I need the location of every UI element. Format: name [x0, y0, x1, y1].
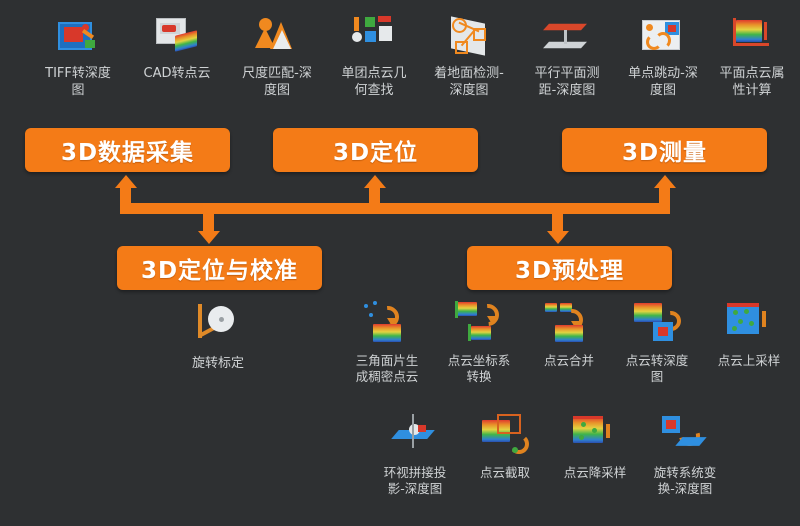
- tool-label: 点云截取: [480, 465, 530, 481]
- panoramic-stitch-icon: [389, 412, 441, 462]
- rotation-transform-icon: [659, 412, 711, 462]
- tool-label: 平面点云属 性计算: [719, 65, 784, 99]
- cloud-downsample-icon: [569, 412, 621, 462]
- connector-hbar-left: [120, 203, 380, 214]
- tool-label: 旋转标定: [192, 355, 244, 372]
- tool-point-cloud-upsampling[interactable]: 点云上采样: [712, 300, 786, 369]
- tool-label: 着地面检测- 深度图: [434, 65, 504, 99]
- tool-label: TIFF转深度 图: [45, 65, 111, 99]
- process-box-3d-data-acquisition[interactable]: 3D数据采集: [25, 128, 230, 172]
- cloud-to-depth-icon: [631, 300, 683, 350]
- ground-plane-detect-icon: [443, 12, 495, 62]
- coord-transform-icon: [453, 300, 505, 350]
- connector-hbar-right: [369, 203, 670, 214]
- tool-point-cloud-downsampling[interactable]: 点云降采样: [558, 412, 632, 481]
- tool-label: 环视拼接投 影-深度图: [384, 465, 447, 497]
- tool-label: 点云合并: [544, 353, 594, 369]
- tool-label: 单点跳动-深 度图: [628, 65, 698, 99]
- tool-parallel-plane-distance[interactable]: 平行平面测 距-深度图: [531, 12, 603, 99]
- connector-arrow-up-measurement: [654, 175, 676, 188]
- connector-arrow-down-preprocess: [547, 231, 569, 244]
- tool-point-cloud-crop[interactable]: 点云截取: [468, 412, 542, 481]
- tool-tiff-to-depth-map[interactable]: TIFF转深度 图: [42, 12, 114, 99]
- tool-panoramic-stitch-projection[interactable]: 环视拼接投 影-深度图: [378, 412, 452, 497]
- tool-label: 平行平面测 距-深度图: [534, 65, 599, 99]
- tool-label: 单团点云几 何查找: [341, 65, 406, 99]
- tool-label: 点云降采样: [564, 465, 627, 481]
- tool-rotation-system-transform[interactable]: 旋转系统变 换-深度图: [648, 412, 722, 497]
- tool-label: 点云上采样: [718, 353, 781, 369]
- rotation-calibration-icon: [192, 300, 244, 352]
- diagram-canvas: TIFF转深度 图 CAD转点云 尺度匹配-深 度图 单团点云几 何查找: [0, 0, 800, 526]
- tool-ground-plane-detect[interactable]: 着地面检测- 深度图: [433, 12, 505, 99]
- tool-plane-cloud-attribute[interactable]: 平面点云属 性计算: [716, 12, 788, 99]
- connector-stem-down-calibration: [203, 208, 214, 232]
- tool-point-cloud-coord-transform[interactable]: 点云坐标系 转换: [442, 300, 516, 385]
- tool-label: 点云转深度 图: [626, 353, 689, 385]
- connector-arrow-down-calibration: [198, 231, 220, 244]
- tool-point-cloud-merge[interactable]: 点云合并: [532, 300, 606, 369]
- tool-label: CAD转点云: [144, 65, 211, 82]
- tool-triangle-mesh-to-dense-cloud[interactable]: 三角面片生 成稠密点云: [350, 300, 424, 385]
- connector-stem-down-preprocess: [552, 208, 563, 232]
- plane-attribute-icon: [726, 12, 778, 62]
- blob-geometry-find-icon: [348, 12, 400, 62]
- cloud-merge-icon: [543, 300, 595, 350]
- point-runout-icon: [637, 12, 689, 62]
- tool-cad-to-point-cloud[interactable]: CAD转点云: [141, 12, 213, 82]
- process-box-3d-measurement[interactable]: 3D测量: [562, 128, 767, 172]
- tool-label: 点云坐标系 转换: [448, 353, 511, 385]
- tool-label: 三角面片生 成稠密点云: [356, 353, 419, 385]
- tiff-to-depth-icon: [52, 12, 104, 62]
- scale-match-icon: [251, 12, 303, 62]
- parallel-plane-distance-icon: [541, 12, 593, 62]
- cloud-crop-icon: [479, 412, 531, 462]
- process-box-3d-localization-calibration[interactable]: 3D定位与校准: [117, 246, 322, 290]
- cad-to-pointcloud-icon: [151, 12, 203, 62]
- tool-point-cloud-to-depth-map[interactable]: 点云转深度 图: [620, 300, 694, 385]
- connector-arrow-up-localization: [364, 175, 386, 188]
- tool-label: 旋转系统变 换-深度图: [654, 465, 717, 497]
- tool-rotation-calibration[interactable]: 旋转标定: [182, 300, 254, 372]
- tool-scale-match-depth-map[interactable]: 尺度匹配-深 度图: [241, 12, 313, 99]
- process-box-3d-preprocessing[interactable]: 3D预处理: [467, 246, 672, 290]
- process-box-3d-localization[interactable]: 3D定位: [273, 128, 478, 172]
- tool-single-point-runout[interactable]: 单点跳动-深 度图: [627, 12, 699, 99]
- tool-single-blob-geometry-find[interactable]: 单团点云几 何查找: [338, 12, 410, 99]
- connector-arrow-up-acquisition: [115, 175, 137, 188]
- tool-label: 尺度匹配-深 度图: [242, 65, 312, 99]
- cloud-upsample-icon: [723, 300, 775, 350]
- mesh-to-cloud-icon: [361, 300, 413, 350]
